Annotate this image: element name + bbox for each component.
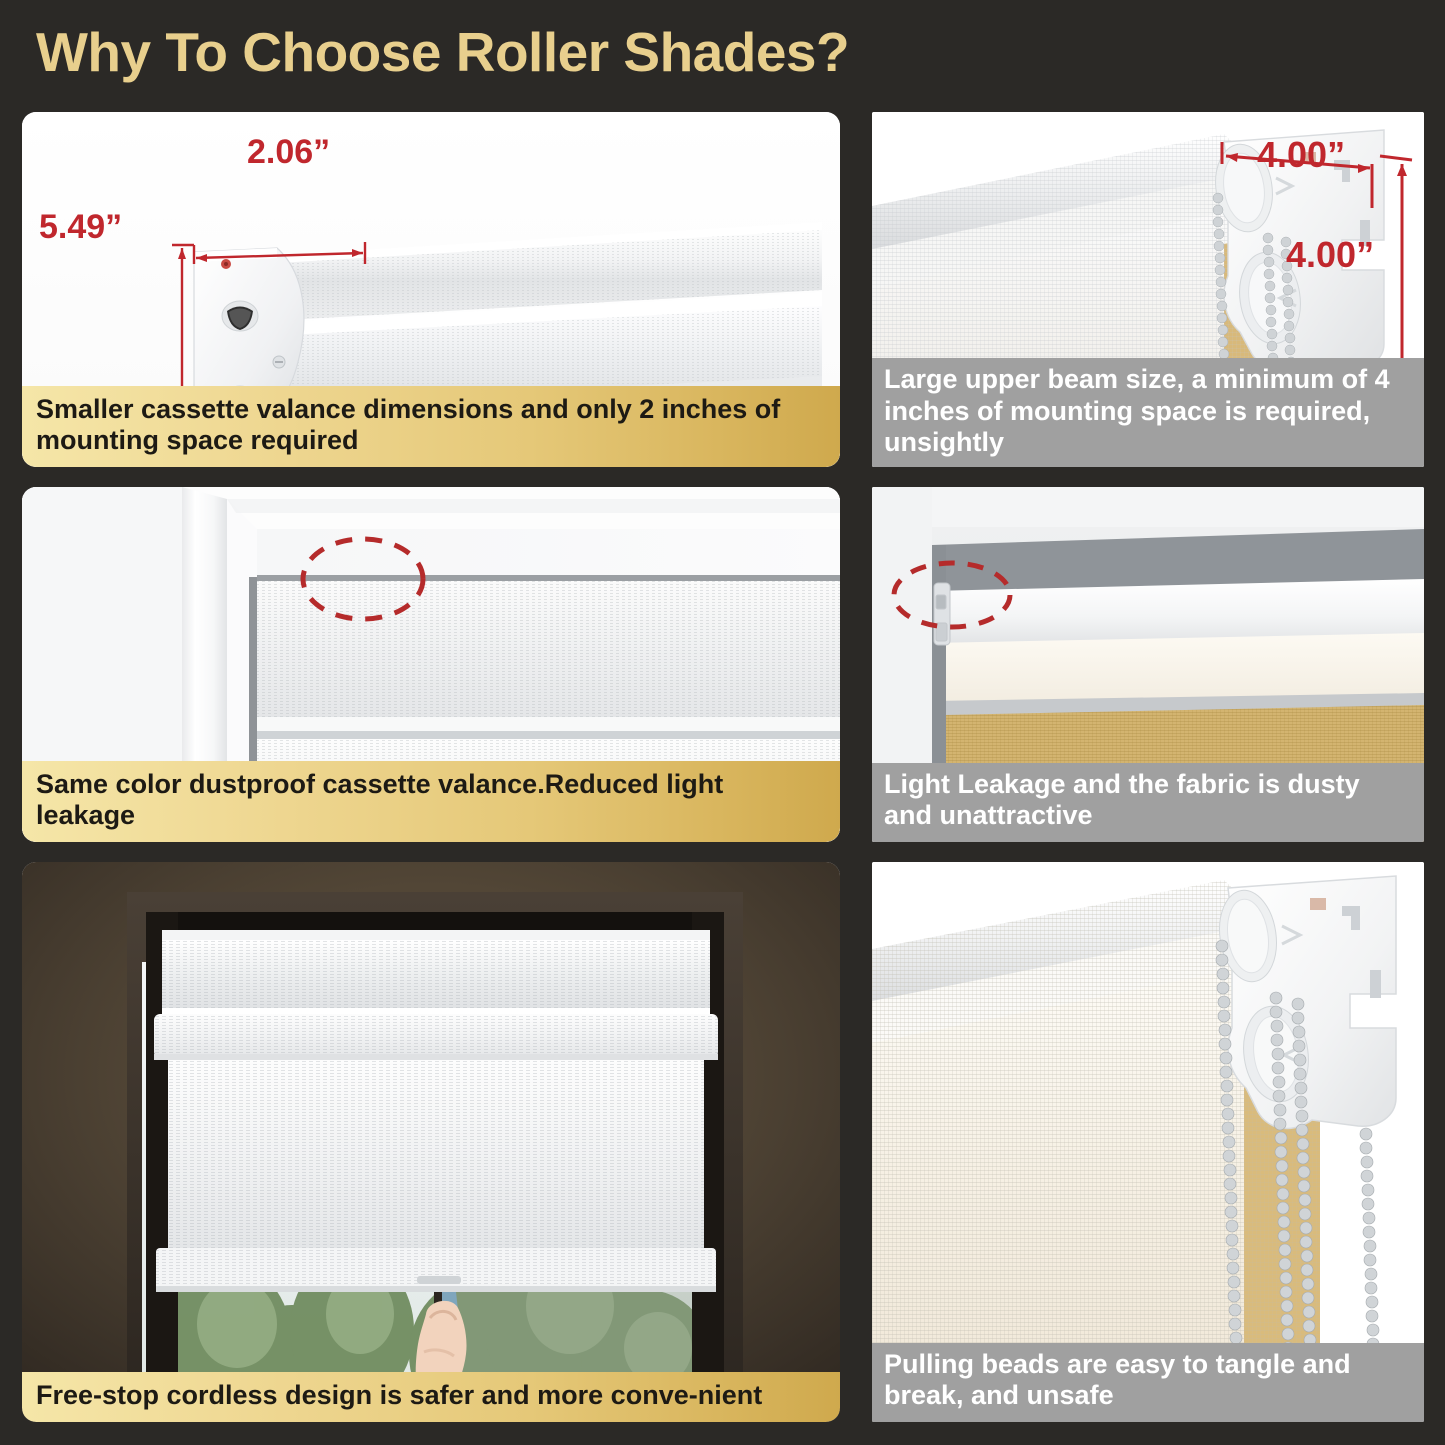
panel-smaller-cassette: 2.06” 5.49” Smaller cassette valance dim… <box>22 112 840 467</box>
panel-3-caption: Same color dustproof cassette valance.Re… <box>22 761 840 842</box>
panel-pulling-beads: Pulling beads are easy to tangle and bre… <box>872 862 1424 1422</box>
infographic-root: Why To Choose Roller Shades? <box>0 0 1445 1445</box>
panel-5-caption: Free-stop cordless design is safer and m… <box>22 1372 840 1422</box>
panel-large-upper-beam: 4.00” 4.00” Large upper beam size, a min… <box>872 112 1424 467</box>
panel-1-width-dimension-label: 2.06” <box>247 133 330 172</box>
page-title: Why To Choose Roller Shades? <box>36 20 1136 90</box>
panel-2-caption: Large upper beam size, a minimum of 4 in… <box>872 358 1424 467</box>
panel-2-height-dimension-label: 4.00” <box>1286 234 1374 276</box>
panel-6-caption: Pulling beads are easy to tangle and bre… <box>872 1343 1424 1422</box>
panel-5-photo <box>22 862 840 1422</box>
panel-cordless-design: Free-stop cordless design is safer and m… <box>22 862 840 1422</box>
panel-2-width-dimension-label: 4.00” <box>1257 134 1345 176</box>
panel-4-caption: Light Leakage and the fabric is dusty an… <box>872 763 1424 842</box>
panel-1-height-dimension-label: 5.49” <box>39 208 122 247</box>
panel-1-caption: Smaller cassette valance dimensions and … <box>22 386 840 467</box>
panel-light-leakage: Large gap Light Leakage and the fabric i… <box>872 487 1424 842</box>
panel-6-photo <box>872 862 1424 1422</box>
panel-dustproof-valance: smaller gap Same color dustproof cassett… <box>22 487 840 842</box>
